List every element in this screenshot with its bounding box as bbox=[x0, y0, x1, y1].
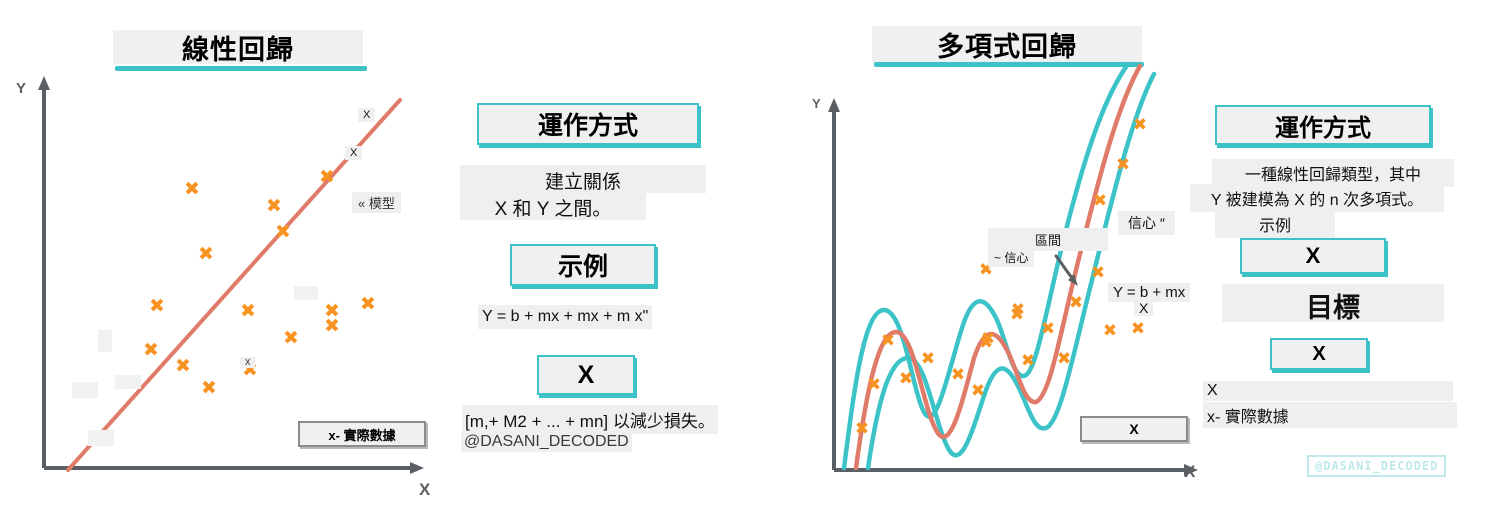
right-example-pill[interactable]: X bbox=[1240, 238, 1386, 274]
left-goal-pill[interactable]: X bbox=[537, 355, 635, 395]
right-title-banner: 多項式回歸 bbox=[872, 26, 1142, 62]
svg-text:✖: ✖ bbox=[201, 377, 217, 399]
svg-text:✖: ✖ bbox=[867, 375, 881, 395]
svg-text:✖: ✖ bbox=[1011, 300, 1025, 320]
left-title-banner: 線性回歸 bbox=[113, 30, 363, 64]
svg-text:✖: ✖ bbox=[855, 419, 869, 439]
ghost-artifact-2 bbox=[115, 375, 141, 389]
right-goal-pill-label: X bbox=[1312, 343, 1325, 366]
left-handle: @DASANI_DECODED bbox=[461, 432, 632, 452]
left-point-label-3: X bbox=[240, 357, 255, 368]
right-goal-line2: x- 實際數據 bbox=[1203, 402, 1457, 428]
svg-text:✖: ✖ bbox=[175, 355, 191, 377]
svg-text:✖: ✖ bbox=[283, 327, 299, 349]
svg-text:✖: ✖ bbox=[899, 369, 913, 389]
left-example-pill: 示例 bbox=[510, 244, 656, 286]
right-example-label: X bbox=[1306, 243, 1321, 269]
svg-text:✖: ✖ bbox=[1069, 293, 1083, 313]
right-howitworks-line2: Y 被建模為 X 的 n 次多項式。 bbox=[1190, 184, 1444, 212]
left-howitworks-heading: 運作方式 bbox=[538, 106, 638, 142]
ghost-artifact-4 bbox=[88, 430, 114, 446]
svg-text:✖: ✖ bbox=[184, 178, 200, 200]
svg-text:✖: ✖ bbox=[971, 381, 985, 401]
left-point-label-2: X bbox=[345, 146, 362, 160]
svg-text:✖: ✖ bbox=[1057, 349, 1071, 369]
svg-text:✖: ✖ bbox=[1133, 115, 1147, 135]
right-handle-watermark: @DASANI_DECODED bbox=[1307, 455, 1446, 477]
left-point-label-1: X bbox=[358, 108, 375, 122]
right-howitworks-pill: 運作方式 bbox=[1215, 105, 1431, 145]
right-annotation-confidence-high: 信心 ″ bbox=[1118, 211, 1175, 235]
left-goal-heading: X bbox=[578, 361, 595, 390]
svg-text:✖: ✖ bbox=[1091, 263, 1105, 283]
svg-text:✖: ✖ bbox=[921, 349, 935, 369]
left-model-label: « 模型 bbox=[352, 192, 401, 213]
svg-text:✖: ✖ bbox=[149, 295, 165, 317]
infographic-canvas: 線性回歸 Y X ✖ ✖ ✖ ✖ ✖ ✖ ✖ ✖ ✖ ✖ ✖ ✖ ✖ ✖ bbox=[0, 0, 1500, 510]
left-howitworks-line1: 建立關係 bbox=[460, 165, 706, 193]
svg-text:✖: ✖ bbox=[881, 331, 895, 351]
left-legend-text: x- 實際數據 bbox=[328, 425, 395, 444]
ghost-artifact-5 bbox=[294, 286, 318, 300]
svg-text:✖: ✖ bbox=[143, 339, 159, 361]
ghost-artifact-1 bbox=[98, 330, 112, 352]
svg-text:✖: ✖ bbox=[319, 166, 335, 188]
right-goal-pill[interactable]: X bbox=[1270, 338, 1368, 370]
right-title-text: 多項式回歸 bbox=[937, 25, 1077, 64]
right-goal-line1: X bbox=[1203, 381, 1453, 401]
svg-text:✖: ✖ bbox=[266, 195, 282, 217]
svg-text:✖: ✖ bbox=[1116, 155, 1130, 175]
svg-text:✖: ✖ bbox=[981, 329, 995, 349]
svg-text:✖: ✖ bbox=[198, 243, 214, 265]
svg-text:✖: ✖ bbox=[1103, 321, 1117, 341]
right-howitworks-line3: 示例 bbox=[1215, 210, 1335, 238]
svg-text:✖: ✖ bbox=[240, 300, 256, 322]
left-example-heading: 示例 bbox=[558, 247, 608, 283]
right-annotation-equation-line2: X bbox=[1134, 300, 1153, 316]
svg-text:✖: ✖ bbox=[951, 365, 965, 385]
left-howitworks-line2: X 和 Y 之間。 bbox=[460, 192, 646, 220]
svg-text:✖: ✖ bbox=[1131, 319, 1145, 339]
left-goal-text: [m,+ M2 + ... + mn] 以減少損失。 bbox=[462, 405, 718, 434]
left-howitworks-pill: 運作方式 bbox=[477, 103, 699, 145]
left-legend-pill: x- 實際數據 bbox=[298, 421, 426, 447]
svg-text:✖: ✖ bbox=[360, 293, 376, 315]
right-legend-text: X bbox=[1129, 421, 1138, 437]
left-example-formula: Y = b + mx + mx + m x" bbox=[478, 305, 652, 329]
ghost-artifact-3 bbox=[72, 382, 98, 398]
svg-text:✖: ✖ bbox=[1021, 351, 1035, 371]
svg-text:✖: ✖ bbox=[324, 315, 340, 337]
right-howitworks-line1: 一種線性回歸類型，其中 bbox=[1212, 159, 1454, 187]
right-howitworks-heading: 運作方式 bbox=[1275, 108, 1371, 143]
svg-text:✖: ✖ bbox=[275, 221, 291, 243]
right-goal-heading-chip: 目標 bbox=[1222, 284, 1444, 322]
right-legend-pill: X bbox=[1080, 416, 1188, 442]
svg-text:✖: ✖ bbox=[1093, 191, 1107, 211]
right-annotation-confidence-low: ~ 信心 bbox=[988, 248, 1034, 267]
svg-text:✖: ✖ bbox=[1041, 319, 1055, 339]
